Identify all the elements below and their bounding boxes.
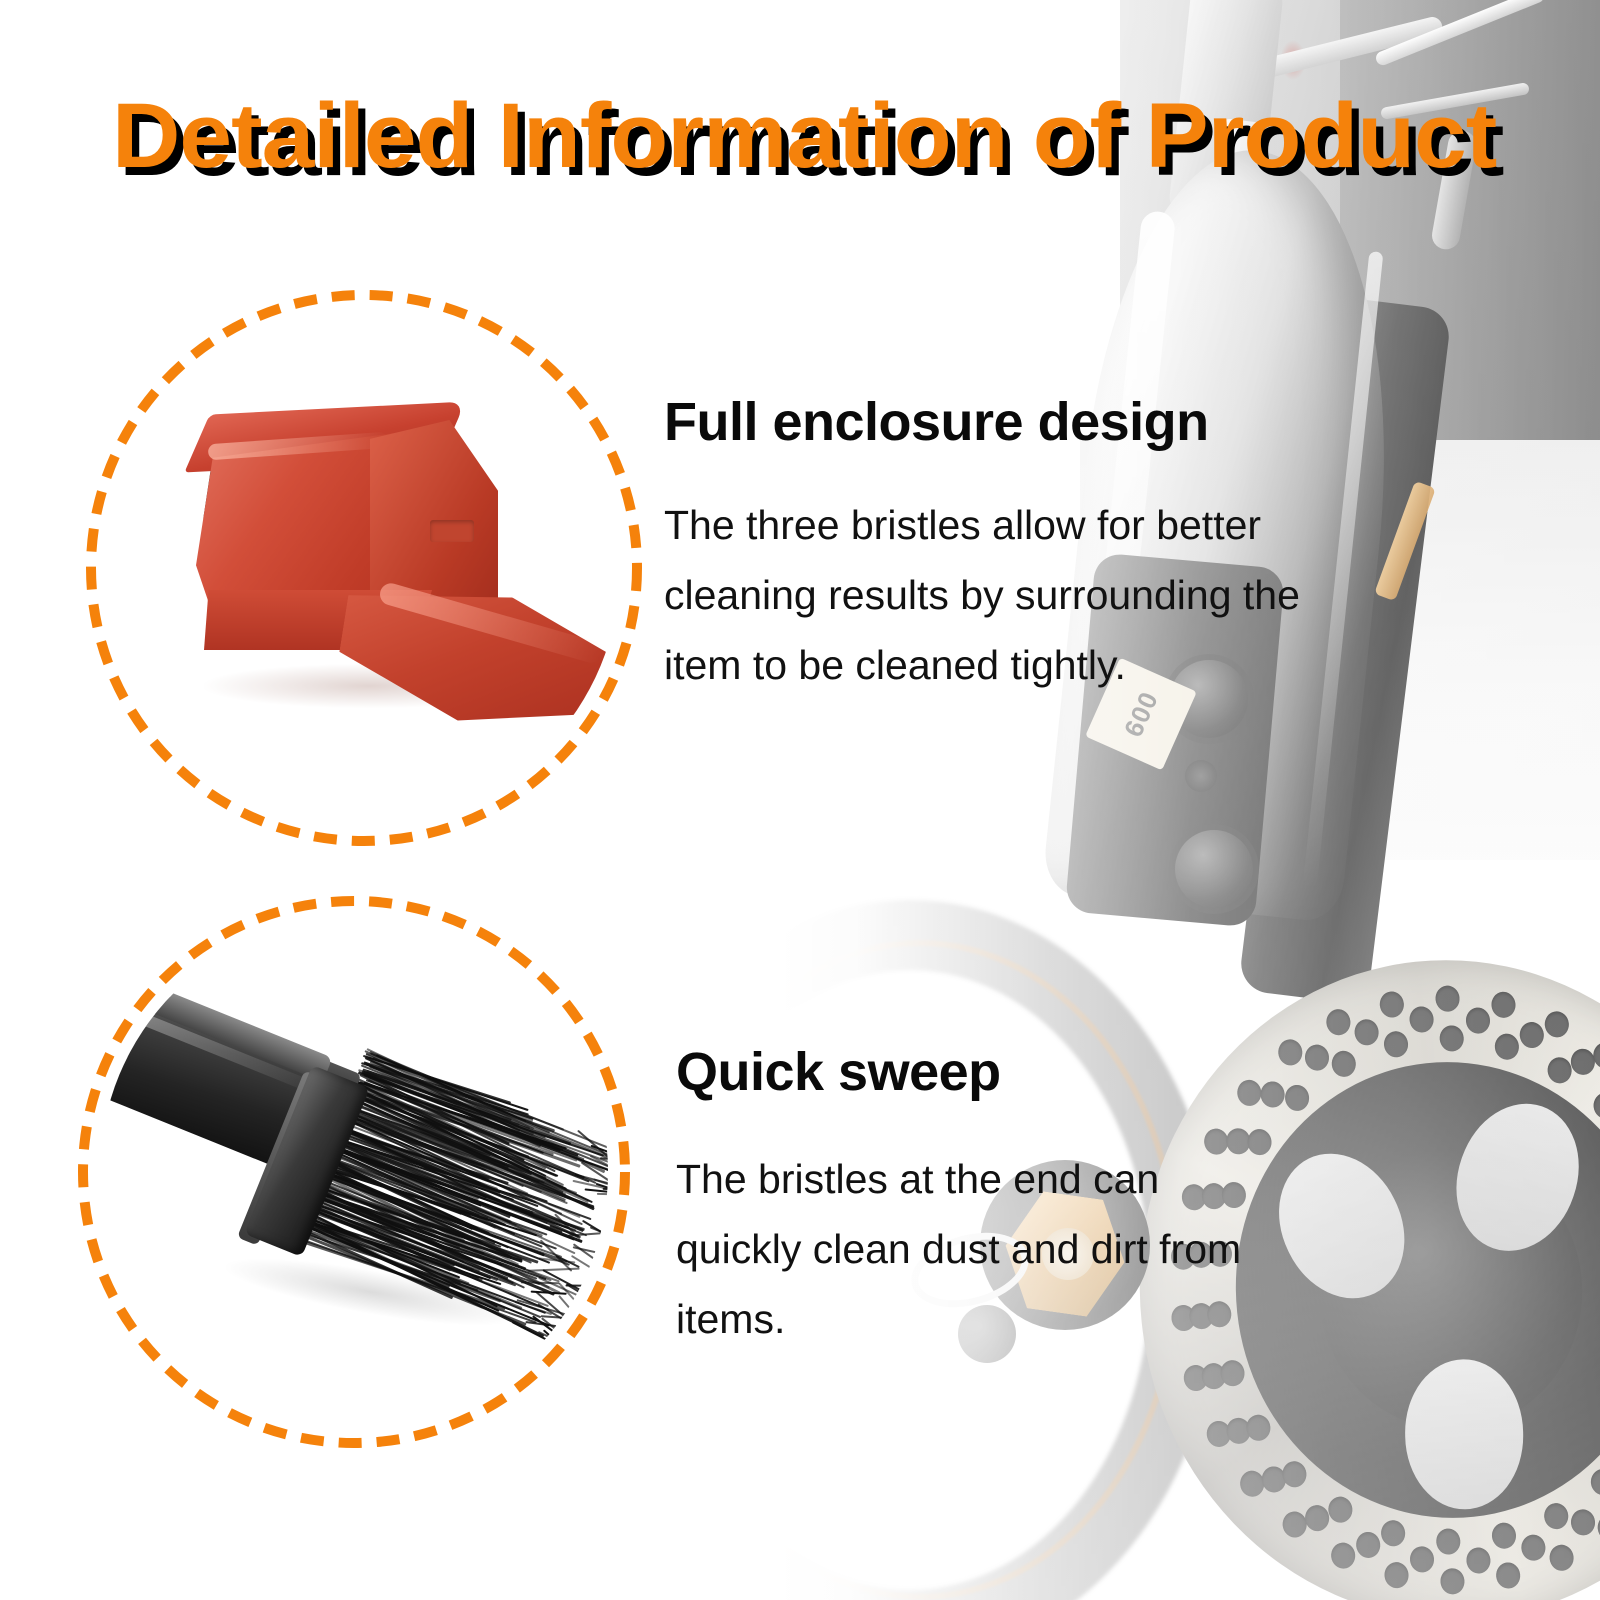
dashed-circle-icon [78,896,630,1448]
dashed-circle-icon [86,290,642,846]
feature-image-frame-quick-sweep [78,896,630,1448]
feature-block-full-enclosure-design: Full enclosure design The three bristles… [664,392,1344,700]
feature-heading: Quick sweep [676,1042,1276,1102]
feature-block-quick-sweep: Quick sweep The bristles at the end can … [676,1042,1276,1354]
background-motorcycle-photo: 600 [780,0,1600,1600]
feature-heading: Full enclosure design [664,392,1344,452]
page-title: Detailed Information of Product [112,88,1554,184]
feature-body: The three bristles allow for better clea… [664,490,1344,700]
feature-image-frame-full-enclosure-design [86,290,642,846]
feature-body: The bristles at the end can quickly clea… [676,1144,1276,1354]
infographic-canvas: 600 Detailed Information of Product [0,0,1600,1600]
